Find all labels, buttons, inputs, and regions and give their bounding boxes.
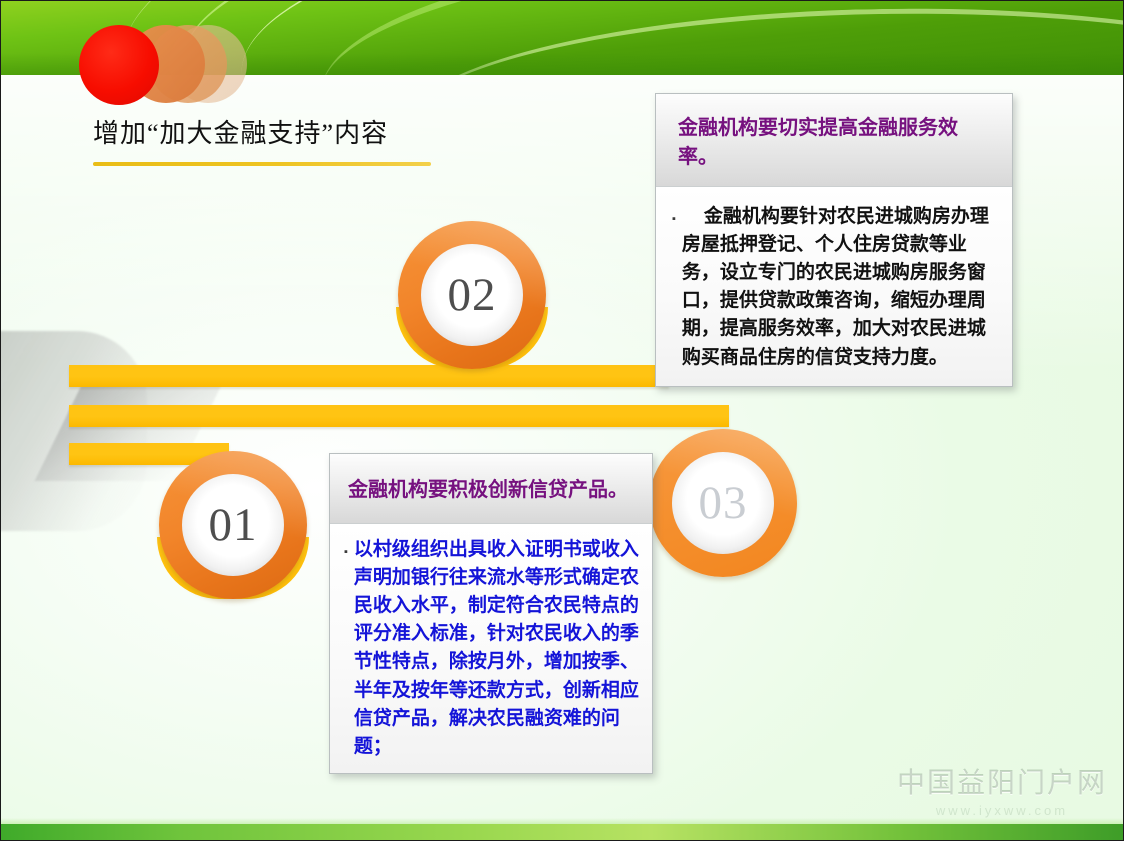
title-underline xyxy=(93,162,431,166)
card-bottom-heading: 金融机构要积极创新信贷产品。 xyxy=(348,476,638,505)
accent-bar-1 xyxy=(69,365,669,387)
node-number: 01 xyxy=(182,474,284,576)
card-top-body: ▪ 金融机构要针对农民进城购房办理房屋抵押登记、个人住房贷款等业务，设立专门的农… xyxy=(656,187,1012,386)
title-block: 增加“加大金融支持”内容 xyxy=(93,113,513,166)
logo-group xyxy=(73,23,263,109)
red-circle-logo-icon xyxy=(79,25,159,105)
content-card-top: 金融机构要切实提高金融服务效率。 ▪ 金融机构要针对农民进城购房办理房屋抵押登记… xyxy=(655,93,1013,387)
card-top-heading: 金融机构要切实提高金融服务效率。 xyxy=(678,114,996,172)
card-bottom-body-text: 以村级组织出具收入证明书或收入声明加银行往来流水等形式确定农民收入水平，制定符合… xyxy=(354,536,640,761)
card-top-header: 金融机构要切实提高金融服务效率。 xyxy=(656,94,1012,187)
node-number: 02 xyxy=(421,244,523,346)
page-title: 增加“加大金融支持”内容 xyxy=(93,113,513,150)
node-01[interactable]: 01 xyxy=(159,451,307,599)
bullet-icon: ▪ xyxy=(344,536,348,761)
card-bottom-body: ▪ 以村级组织出具收入证明书或收入声明加银行往来流水等形式确定农民收入水平，制定… xyxy=(330,524,652,773)
presentation-slide: 增加“加大金融支持”内容 03 02 01 金融机构要切实提高金融服务效率。 ▪ xyxy=(0,0,1124,841)
node-03[interactable]: 03 xyxy=(649,429,797,577)
card-bottom-header: 金融机构要积极创新信贷产品。 xyxy=(330,454,652,524)
bullet-icon: ▪ xyxy=(672,203,676,372)
node-02[interactable]: 02 xyxy=(398,221,546,369)
node-number: 03 xyxy=(672,452,774,554)
footer-bar xyxy=(1,824,1123,840)
accent-bar-2 xyxy=(69,405,729,427)
card-top-body-text: 金融机构要针对农民进城购房办理房屋抵押登记、个人住房贷款等业务，设立专门的农民进… xyxy=(682,203,996,372)
content-card-bottom: 金融机构要积极创新信贷产品。 ▪ 以村级组织出具收入证明书或收入声明加银行往来流… xyxy=(329,453,653,774)
